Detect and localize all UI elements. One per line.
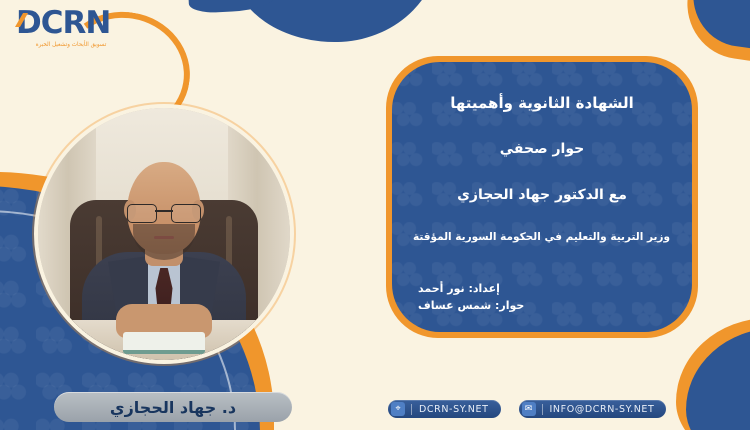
portrait-photo [38,108,290,360]
panel-title: الشهادة الثانوية وأهميتها [414,94,670,112]
guest-name-badge: د. جهاد الحجازي [54,392,292,422]
lens-left [127,204,157,223]
guest-portrait [38,108,290,360]
lens-right [171,204,201,223]
eyeglasses-icon [127,204,201,222]
poster-canvas: DCRN تسويق الأبحاث وتشغيل الخبرة [0,0,750,430]
mouth [154,236,174,239]
logo-tagline: تسويق الأبحاث وتشغيل الخبرة [12,42,130,48]
credit-interviewer: حوار: شمس عساف [418,298,670,315]
email-pill[interactable]: ✉ INFO@DCRN-SY.NET [519,400,667,418]
website-pill[interactable]: ⌖ DCRN-SY.NET [388,400,501,418]
panel-subtitle: حوار صحفي [414,141,670,157]
top-right-blob-outline [680,0,750,72]
contact-bar: ⌖ DCRN-SY.NET ✉ INFO@DCRN-SY.NET [388,400,666,418]
content-panel: الشهادة الثانوية وأهميتها حوار صحفي مع ا… [392,62,692,332]
papers [123,332,205,354]
website-label: DCRN-SY.NET [419,404,489,415]
top-right-blob [687,0,750,60]
envelope-icon: ✉ [522,402,536,416]
bottom-right-blob-outline [676,318,750,430]
glasses-bridge [155,210,173,212]
bottom-right-blob [686,328,750,430]
logo-wordmark: DCRN [12,8,130,39]
panel-guest: مع الدكتور جهاد الحجازي [414,187,670,203]
dcrn-logo[interactable]: DCRN تسويق الأبحاث وتشغيل الخبرة [12,8,130,52]
pill-divider-website [411,404,412,415]
panel-role: وزير التربية والتعليم في الحكومة السورية… [414,231,670,243]
globe-icon: ⌖ [391,402,405,416]
email-label: INFO@DCRN-SY.NET [550,404,655,415]
credit-prepared-by: إعداد: نور أحمد [418,281,670,298]
pill-divider-email [542,404,543,415]
credits-block: إعداد: نور أحمد حوار: شمس عساف [414,281,670,314]
top-wave-decoration [229,0,445,47]
